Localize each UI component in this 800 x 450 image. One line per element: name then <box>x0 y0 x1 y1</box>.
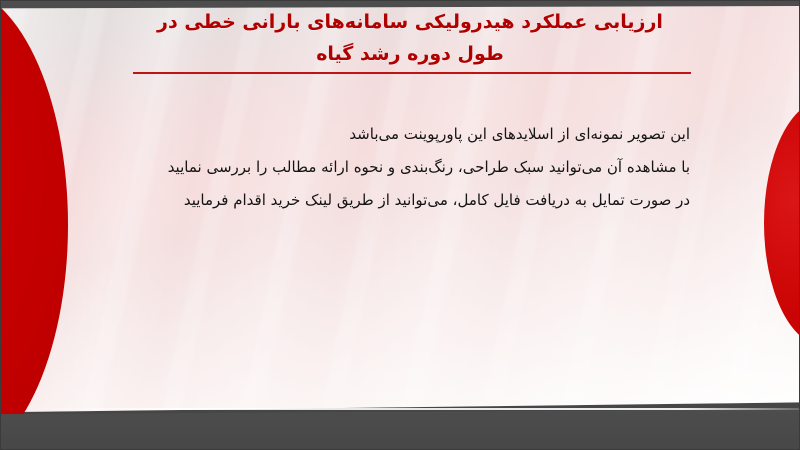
presentation-slide: ارزیابی عملکرد هیدرولیکی سامانه‌های بارا… <box>0 0 800 450</box>
bottom-highlight-line <box>30 408 800 410</box>
slide-title-line-1: ارزیابی عملکرد هیدرولیکی سامانه‌های بارا… <box>110 6 710 38</box>
body-line-2: با مشاهده آن می‌توانید سبک طراحی، رنگ‌بن… <box>120 151 690 184</box>
slide-title-line-2: طول دوره رشد گیاه <box>110 38 710 70</box>
title-underline-rule <box>133 72 691 74</box>
slide-title: ارزیابی عملکرد هیدرولیکی سامانه‌های بارا… <box>110 6 710 70</box>
body-line-1: این تصویر نمونه‌ای از اسلایدهای این پاور… <box>120 118 690 151</box>
body-line-3: در صورت تمایل به دریافت فایل کامل، می‌تو… <box>120 184 690 217</box>
slide-body-text: این تصویر نمونه‌ای از اسلایدهای این پاور… <box>120 118 690 217</box>
